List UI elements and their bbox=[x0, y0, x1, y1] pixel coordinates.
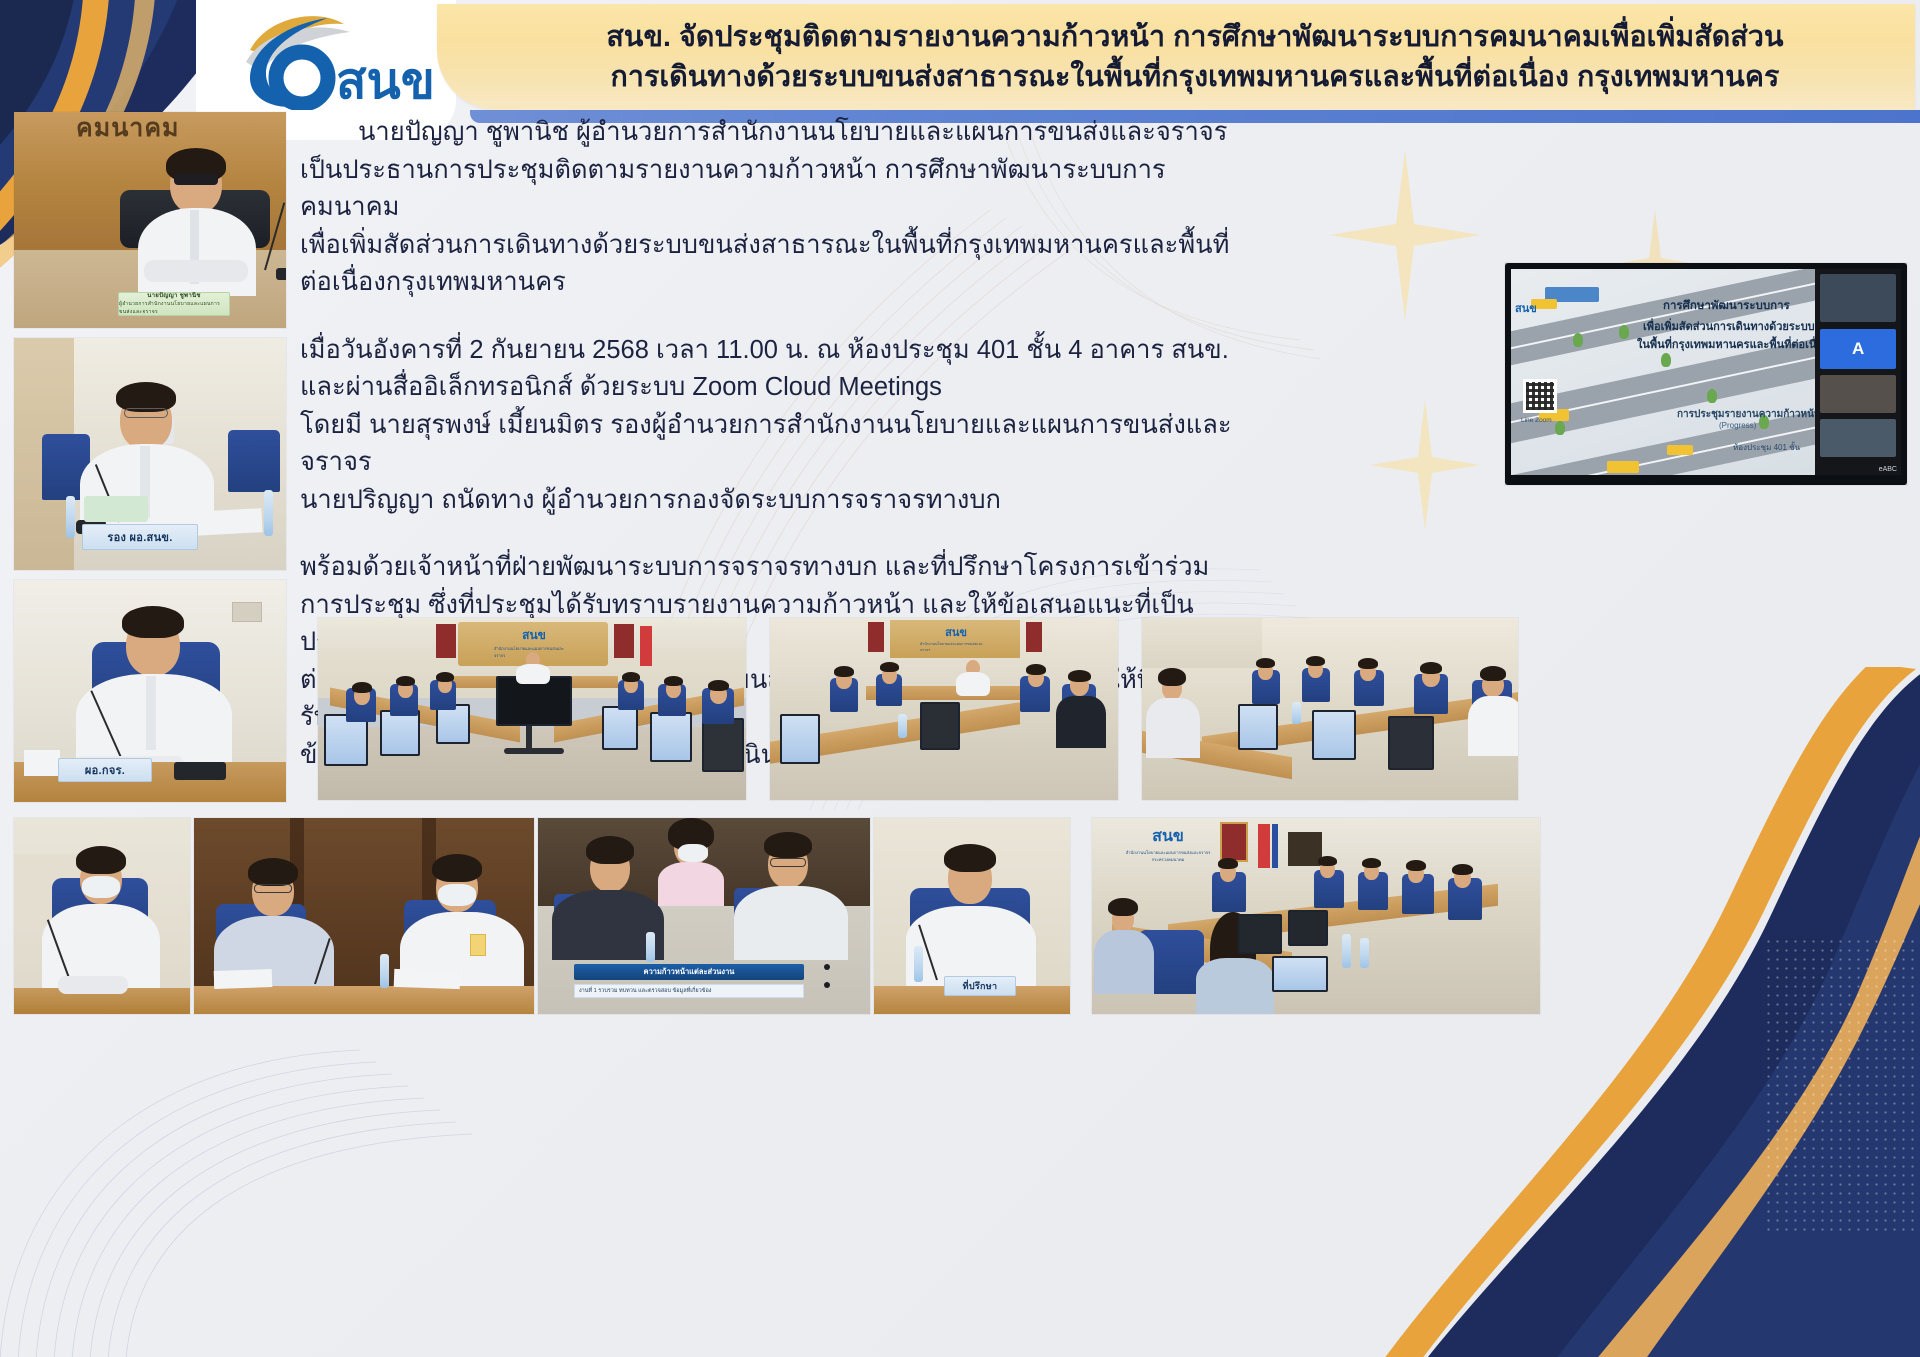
photo-portrait-traffic-director: ผอ.กจร. bbox=[14, 580, 286, 802]
qr-caption: Line Zoom bbox=[1521, 417, 1552, 424]
p1-line1-text: นายปัญญา ชูพานิช ผู้อำนวยการสำนักงานนโยบ… bbox=[358, 118, 1227, 146]
title-line-2: การเดินทางด้วยระบบขนส่งสาธารณะในพื้นที่ก… bbox=[611, 57, 1780, 97]
poster-canvas: สนข สนข. จัดประชุมติดตามรายงานความก้าวหน… bbox=[0, 0, 1920, 1357]
screen-corner-code: eABC bbox=[1879, 466, 1897, 473]
dot-pattern-decoration bbox=[1764, 937, 1914, 1237]
photo-attendees-with-presentation: ความก้าวหน้าแต่ละส่วนงาน งานที่ 1 รวบรวม… bbox=[538, 818, 870, 1014]
organization-logo: สนข bbox=[232, 6, 442, 110]
wall-logo-room-2: สนข สำนักงานนโยบายและแผนการขนส่งและจราจร bbox=[920, 623, 992, 653]
p1-line2: เป็นประธานการประชุมติดตามรายงานความก้าวห… bbox=[300, 152, 1240, 227]
nameplate-deputy: รอง ผอ.สนข. bbox=[82, 524, 198, 550]
p2-line2: และผ่านสื่ออิเล็กทรอนิกส์ ด้วยระบบ Zoom … bbox=[300, 369, 1240, 407]
nameplate-traffic-director-text: ผอ.กจร. bbox=[85, 761, 125, 779]
zoom-tile-room bbox=[1820, 274, 1896, 322]
zoom-tile-participant-1 bbox=[1820, 375, 1896, 413]
presentation-screen-banner: ความก้าวหน้าแต่ละส่วนงาน bbox=[574, 964, 804, 980]
nameplate-chairman-line2: ผู้อำนวยการสำนักงานนโยบายและแผนการขนส่งแ… bbox=[119, 300, 229, 316]
photo-meeting-room-wide-4: สนข สำนักงานนโยบายและแผนการขนส่งและจราจร… bbox=[1092, 818, 1540, 1014]
zoom-tile-participant-2 bbox=[1820, 419, 1896, 457]
p2-line4: นายปริญญา ถนัดทาง ผู้อำนวยการกองจัดระบบก… bbox=[300, 482, 1240, 520]
svg-text:สนข: สนข bbox=[336, 53, 435, 109]
slide-subcaption: (Progress) bbox=[1719, 421, 1756, 430]
p3-line1: พร้อมด้วยเจ้าหน้าที่ฝ่ายพัฒนาระบบการจราจ… bbox=[300, 549, 1240, 587]
nameplate-consultant: ที่ปรึกษา bbox=[944, 976, 1016, 996]
nameplate-chairman-line1: นายปัญญา ชูพานิช bbox=[147, 292, 201, 300]
photo-portrait-chairman: คมนาคม นายปัญญา ชูพานิช ผู้อำนวยการสำนัก… bbox=[14, 112, 286, 328]
nameplate-deputy-text: รอง ผอ.สนข. bbox=[107, 528, 172, 546]
p2-line3: โดยมี นายสุรพงษ์ เมี้ยนมิตร รองผู้อำนวยก… bbox=[300, 407, 1240, 482]
slide-room-label: ห้องประชุม 401 ชั้น bbox=[1733, 441, 1800, 454]
slide-title-line-1: การศึกษาพัฒนาระบบการ bbox=[1663, 297, 1790, 315]
paragraph-gap-1 bbox=[300, 302, 1240, 332]
slide-logo-text: สนข bbox=[1515, 299, 1537, 317]
presentation-screen: สนข การศึกษาพัฒนาระบบการ เพื่อเพิ่มสัดส่… bbox=[1511, 269, 1901, 475]
zoom-tile-initial: A bbox=[1820, 329, 1896, 369]
photo-meeting-room-wide-1: สนข สำนักงานนโยบายและแผนการขนส่งและจราจร bbox=[318, 618, 746, 800]
p2-line1: เมื่อวันอังคารที่ 2 กันยายน 2568 เวลา 11… bbox=[300, 332, 1240, 370]
slide-caption: การประชุมรายงานความก้าวหน้า bbox=[1677, 407, 1820, 422]
photo-meeting-room-wide-3 bbox=[1142, 618, 1518, 800]
nameplate-traffic-director: ผอ.กจร. bbox=[58, 758, 152, 782]
qr-code-icon bbox=[1523, 379, 1557, 413]
header-bar: สนข สนข. จัดประชุมติดตามรายงานความก้าวหน… bbox=[0, 0, 1920, 122]
face-mask-icon bbox=[82, 876, 120, 898]
p1-line3: เพื่อเพิ่มสัดส่วนการเดินทางด้วยระบบขนส่ง… bbox=[300, 227, 1240, 265]
title-line-1: สนข. จัดประชุมติดตามรายงานความก้าวหน้า ก… bbox=[606, 17, 1783, 57]
nameplate-chairman: นายปัญญา ชูพานิช ผู้อำนวยการสำนักงานนโยบ… bbox=[118, 292, 230, 316]
paragraph-gap-2 bbox=[300, 519, 1240, 549]
photo-attendees-pair bbox=[194, 818, 534, 1014]
photo-portrait-deputy: รอง ผอ.สนข. bbox=[14, 338, 286, 570]
wall-sign-text: คมนาคม bbox=[76, 112, 180, 148]
p1-line1: นายปัญญา ชูพานิช ผู้อำนวยการสำนักงานนโยบ… bbox=[300, 114, 1240, 152]
laptop-screen bbox=[1272, 956, 1328, 992]
snt-swoosh-logo-icon: สนข bbox=[232, 6, 442, 110]
p1-line4: ต่อเนื่องกรุงเทพมหานคร bbox=[300, 264, 1240, 302]
photo-meeting-room-wide-2: สนข สำนักงานนโยบายและแผนการขนส่งและจราจร bbox=[770, 618, 1118, 800]
presentation-screen-row: งานที่ 1 รวบรวม ทบทวน และตรวจสอบ ข้อมูลท… bbox=[574, 984, 804, 998]
photo-consultant-seated: ที่ปรึกษา bbox=[874, 818, 1070, 1014]
zoom-participant-strip: A bbox=[1815, 269, 1901, 475]
photo-zoom-presentation-screen: สนข การศึกษาพัฒนาระบบการ เพื่อเพิ่มสัดส่… bbox=[1505, 263, 1907, 485]
photo-attendee-single bbox=[14, 818, 190, 1014]
wall-logo-room-4: สนข สำนักงานนโยบายและแผนการขนส่งและจราจร… bbox=[1120, 824, 1216, 863]
poster-title: สนข. จัดประชุมติดตามรายงานความก้าวหน้า ก… bbox=[437, 4, 1915, 110]
